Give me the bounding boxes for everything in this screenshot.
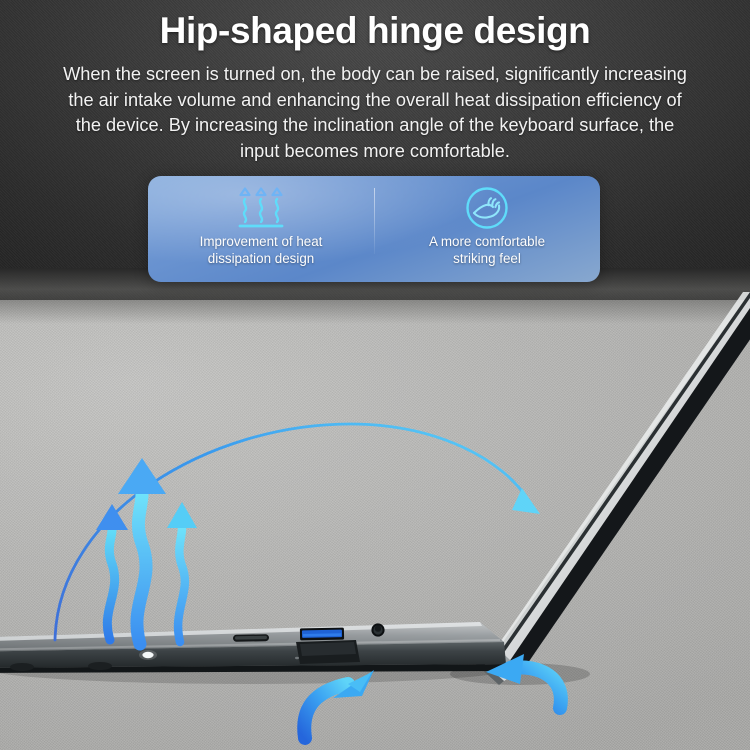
heat-rise-arrow-left: [96, 504, 128, 640]
hand-typing-circle-icon: [464, 185, 510, 231]
hinge-rotation-arc-arrow: [55, 424, 540, 640]
feature-card-heat-label-line2: dissipation design: [200, 251, 323, 268]
feature-card-heat-label-line1: Improvement of heat: [200, 234, 323, 251]
feature-card-striking-feel: A more comfortable striking feel: [374, 176, 600, 282]
page-description: When the screen is turned on, the body c…: [55, 62, 695, 164]
product-feature-banner: Hip-shaped hinge design When the screen …: [0, 0, 750, 750]
annotation-arrows: [0, 292, 750, 750]
feature-card-feel-label: A more comfortable striking feel: [429, 234, 545, 267]
heat-rise-arrow-center: [118, 458, 166, 644]
airflow-intake-arrow-left: [304, 670, 374, 738]
heat-waves-icon: [232, 185, 290, 231]
page-title: Hip-shaped hinge design: [0, 0, 750, 52]
feature-card-feel-label-line1: A more comfortable: [429, 234, 545, 251]
header-block: Hip-shaped hinge design When the screen …: [0, 0, 750, 164]
heat-rise-arrow-right: [167, 502, 197, 642]
airflow-intake-arrow-right: [486, 654, 561, 708]
feature-panel: Improvement of heat dissipation design: [148, 176, 600, 282]
feature-card-feel-label-line2: striking feel: [429, 251, 545, 268]
feature-card-heat-label: Improvement of heat dissipation design: [200, 234, 323, 267]
feature-card-heat-dissipation: Improvement of heat dissipation design: [148, 176, 374, 282]
